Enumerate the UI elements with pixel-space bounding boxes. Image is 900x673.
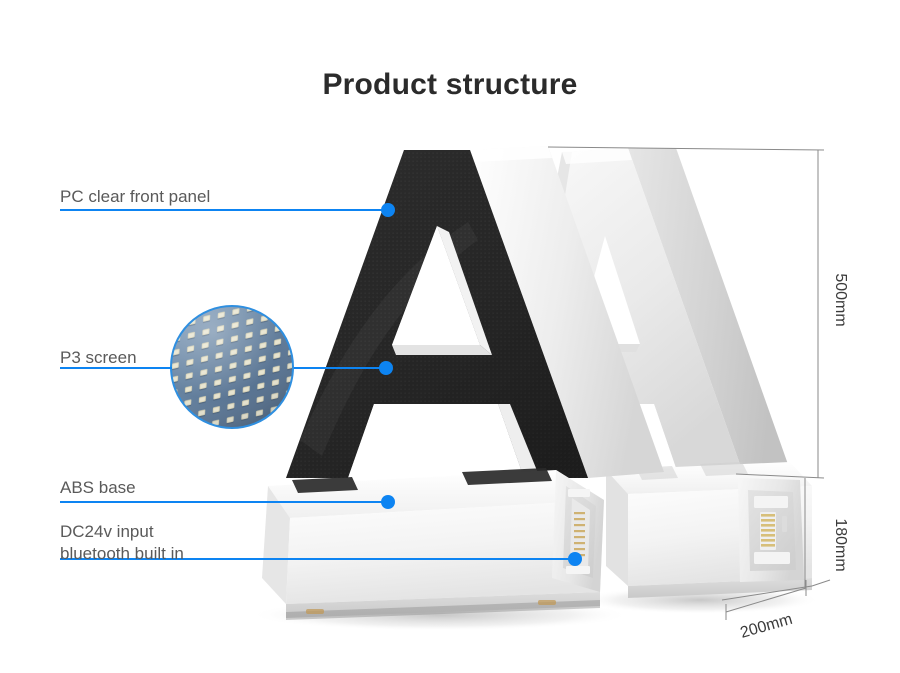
callout-label-dc24v-input: DC24v input bluetooth built in <box>60 521 184 565</box>
back-endcap-vent-top <box>754 496 788 508</box>
dim-ext-line-top <box>548 147 824 150</box>
dimension-label-base-height: 180mm <box>832 518 849 571</box>
leader-dot-abs-base <box>381 495 395 509</box>
callout-label-pc-clear-front-panel: PC clear front panel <box>60 186 210 208</box>
callout-label-p3-screen: P3 screen <box>60 347 137 369</box>
callout-label-abs-base: ABS base <box>60 477 136 499</box>
product-structure-diagram: Product structure <box>0 0 900 673</box>
leader-dot-p3-screen <box>379 361 393 375</box>
back-endcap-switch <box>782 516 787 532</box>
leader-dot-dc24v-input <box>568 552 582 566</box>
abs-base-front <box>262 468 604 620</box>
leader-dot-pc-clear-front-panel <box>381 203 395 217</box>
dim-ext-line-depth-right <box>812 580 830 586</box>
front-endcap-vent-bottom <box>566 566 590 574</box>
front-endcap-vent-top <box>568 489 590 497</box>
front-base-foot-left <box>306 609 324 614</box>
dimension-label-depth: 200mm <box>738 611 794 642</box>
back-base-endcap <box>738 478 804 582</box>
front-letter-lower-window <box>348 404 524 478</box>
dimension-label-height-total: 500mm <box>832 273 849 326</box>
magnifier-shading <box>168 303 298 433</box>
back-endcap-vent-bottom <box>754 552 790 564</box>
product-illustration: 500mm 180mm 200mm <box>0 0 900 673</box>
abs-base-back <box>606 462 812 598</box>
front-base-foot-right <box>538 600 556 605</box>
front-letter-counter-bevel <box>392 345 492 355</box>
front-base-endcap <box>552 470 604 592</box>
